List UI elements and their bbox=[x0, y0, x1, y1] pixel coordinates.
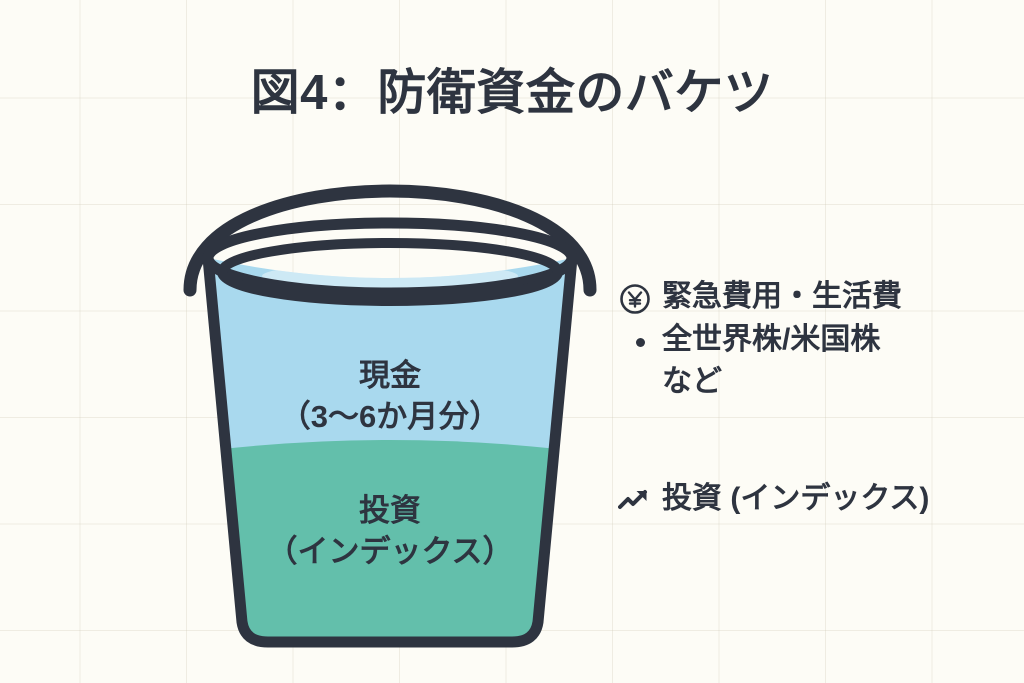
yen-circle-icon bbox=[618, 276, 662, 316]
bullet-dot-icon bbox=[618, 319, 662, 347]
note-equities-line-1: 全世界株/米国株 bbox=[662, 319, 1018, 362]
note-investment-text: 投資 (インデックス) bbox=[662, 478, 1018, 521]
note-equities-text: 全世界株/米国株 など bbox=[662, 319, 1018, 404]
trending-up-icon bbox=[618, 478, 662, 513]
investment-label-line-2: （インデックス） bbox=[150, 531, 630, 572]
note-emergency: 緊急費用・生活費 bbox=[618, 276, 1018, 319]
legend-notes: 緊急費用・生活費 全世界株/米国株 など 投資 (インデックス) bbox=[618, 276, 1018, 520]
investment-layer-label: 投資 （インデックス） bbox=[150, 490, 630, 572]
note-equities: 全世界株/米国株 など bbox=[618, 319, 1018, 404]
note-emergency-text: 緊急費用・生活費 bbox=[662, 276, 1018, 319]
investment-label-line-1: 投資 bbox=[150, 490, 630, 531]
bucket-diagram: 現金 （3〜6か月分） 投資 （インデックス） bbox=[150, 130, 630, 660]
cash-label-line-2: （3〜6か月分） bbox=[150, 396, 630, 437]
cash-label-line-1: 現金 bbox=[150, 355, 630, 396]
note-investment: 投資 (インデックス) bbox=[618, 478, 1018, 521]
note-equities-line-2: など bbox=[662, 361, 1018, 404]
cash-layer-label: 現金 （3〜6か月分） bbox=[150, 355, 630, 437]
page-title: 図4：防衛資金のバケツ bbox=[0, 67, 1024, 121]
slide-canvas: 図4：防衛資金のバケツ bbox=[0, 0, 1024, 683]
